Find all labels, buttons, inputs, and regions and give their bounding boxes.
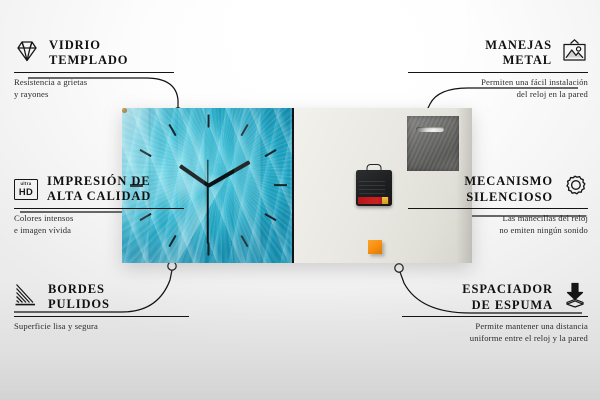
feature-divider xyxy=(14,208,184,209)
polished-edge-icon xyxy=(14,283,39,311)
gear-icon xyxy=(562,174,588,205)
clock-tick-7 xyxy=(168,235,176,247)
clock-tick-4 xyxy=(264,213,276,221)
feature-title: IMPRESIÓN DE ALTA CALIDAD xyxy=(47,174,151,205)
feature-description: Permite mantener una distancia uniforme … xyxy=(402,321,588,345)
feature-header: VIDRIO TEMPLADO xyxy=(14,38,174,69)
clock-tick-6 xyxy=(207,243,209,256)
feature-description: Superficie lisa y segura xyxy=(14,321,189,333)
feature-description: Colores intensos e imagen vívida xyxy=(14,213,184,237)
feature-description: Permiten una fácil instalación del reloj… xyxy=(408,77,588,101)
feature-divider xyxy=(14,316,189,317)
clock-tick-12 xyxy=(207,115,209,128)
feature-impresion-alta-calidad: ultra HD IMPRESIÓN DE ALTA CALIDAD Color… xyxy=(14,174,184,236)
metal-hanger-plate xyxy=(407,116,459,171)
clock-tick-10 xyxy=(139,149,151,157)
feature-mecanismo-silencioso: MECANISMO SILENCIOSO Las manecillas del … xyxy=(408,174,588,237)
press-down-arrow-icon xyxy=(562,282,588,313)
feature-header: MECANISMO SILENCIOSO xyxy=(408,174,588,205)
infographic-canvas: VIDRIO TEMPLADO Resistencia a grietas y … xyxy=(0,0,600,400)
feature-header: ultra HD IMPRESIÓN DE ALTA CALIDAD xyxy=(14,174,184,205)
ultra-hd-badge-icon: ultra HD xyxy=(14,179,38,200)
feature-divider xyxy=(408,72,588,73)
feature-header: BORDES PULIDOS xyxy=(14,282,189,313)
diamond-icon xyxy=(14,39,40,68)
clock-mechanism-box xyxy=(356,170,392,206)
mechanism-battery-strip xyxy=(358,197,389,204)
feature-header: ESPACIADOR DE ESPUMA xyxy=(402,282,588,313)
clock-center-stem xyxy=(207,159,208,185)
feature-divider xyxy=(408,208,588,209)
clock-tick-2 xyxy=(264,149,276,157)
clock-tick-5 xyxy=(240,235,248,247)
clock-tick-1 xyxy=(240,124,248,136)
clock-second-hand xyxy=(207,186,209,244)
feature-divider xyxy=(14,72,174,73)
feature-description: Resistencia a grietas y rayones xyxy=(14,77,174,101)
feature-title: MANEJAS METAL xyxy=(485,38,552,69)
clock-minute-hand xyxy=(207,160,251,187)
mechanism-hanging-loop xyxy=(367,164,382,173)
mechanism-detail-lines xyxy=(359,181,385,195)
feature-description: Las manecillas del reloj no emiten ningú… xyxy=(408,213,588,237)
feature-title: ESPACIADOR DE ESPUMA xyxy=(462,282,553,313)
feature-manejas-metal: MANEJAS METAL Permiten una fácil instala… xyxy=(408,38,588,100)
picture-hanger-icon xyxy=(561,38,588,68)
clock-tick-3 xyxy=(274,184,287,186)
feature-espaciador-espuma: ESPACIADOR DE ESPUMA Permite mantener un… xyxy=(402,282,588,345)
feature-divider xyxy=(402,316,588,317)
clock-tick-11 xyxy=(168,124,176,136)
hanger-slot xyxy=(416,127,444,132)
connector-dot-bordes xyxy=(168,262,176,270)
clock-center-hub xyxy=(122,108,127,113)
feature-bordes-pulidos: BORDES PULIDOS Superficie lisa y segura xyxy=(14,282,189,333)
feature-title: BORDES PULIDOS xyxy=(48,282,110,313)
feature-header: MANEJAS METAL xyxy=(408,38,588,69)
feature-title: VIDRIO TEMPLADO xyxy=(49,38,128,69)
foam-spacer-square xyxy=(368,240,382,254)
feature-vidrio-templado: VIDRIO TEMPLADO Resistencia a grietas y … xyxy=(14,38,174,100)
feature-title: MECANISMO SILENCIOSO xyxy=(464,174,553,205)
connector-dot-espaciador xyxy=(395,264,403,272)
